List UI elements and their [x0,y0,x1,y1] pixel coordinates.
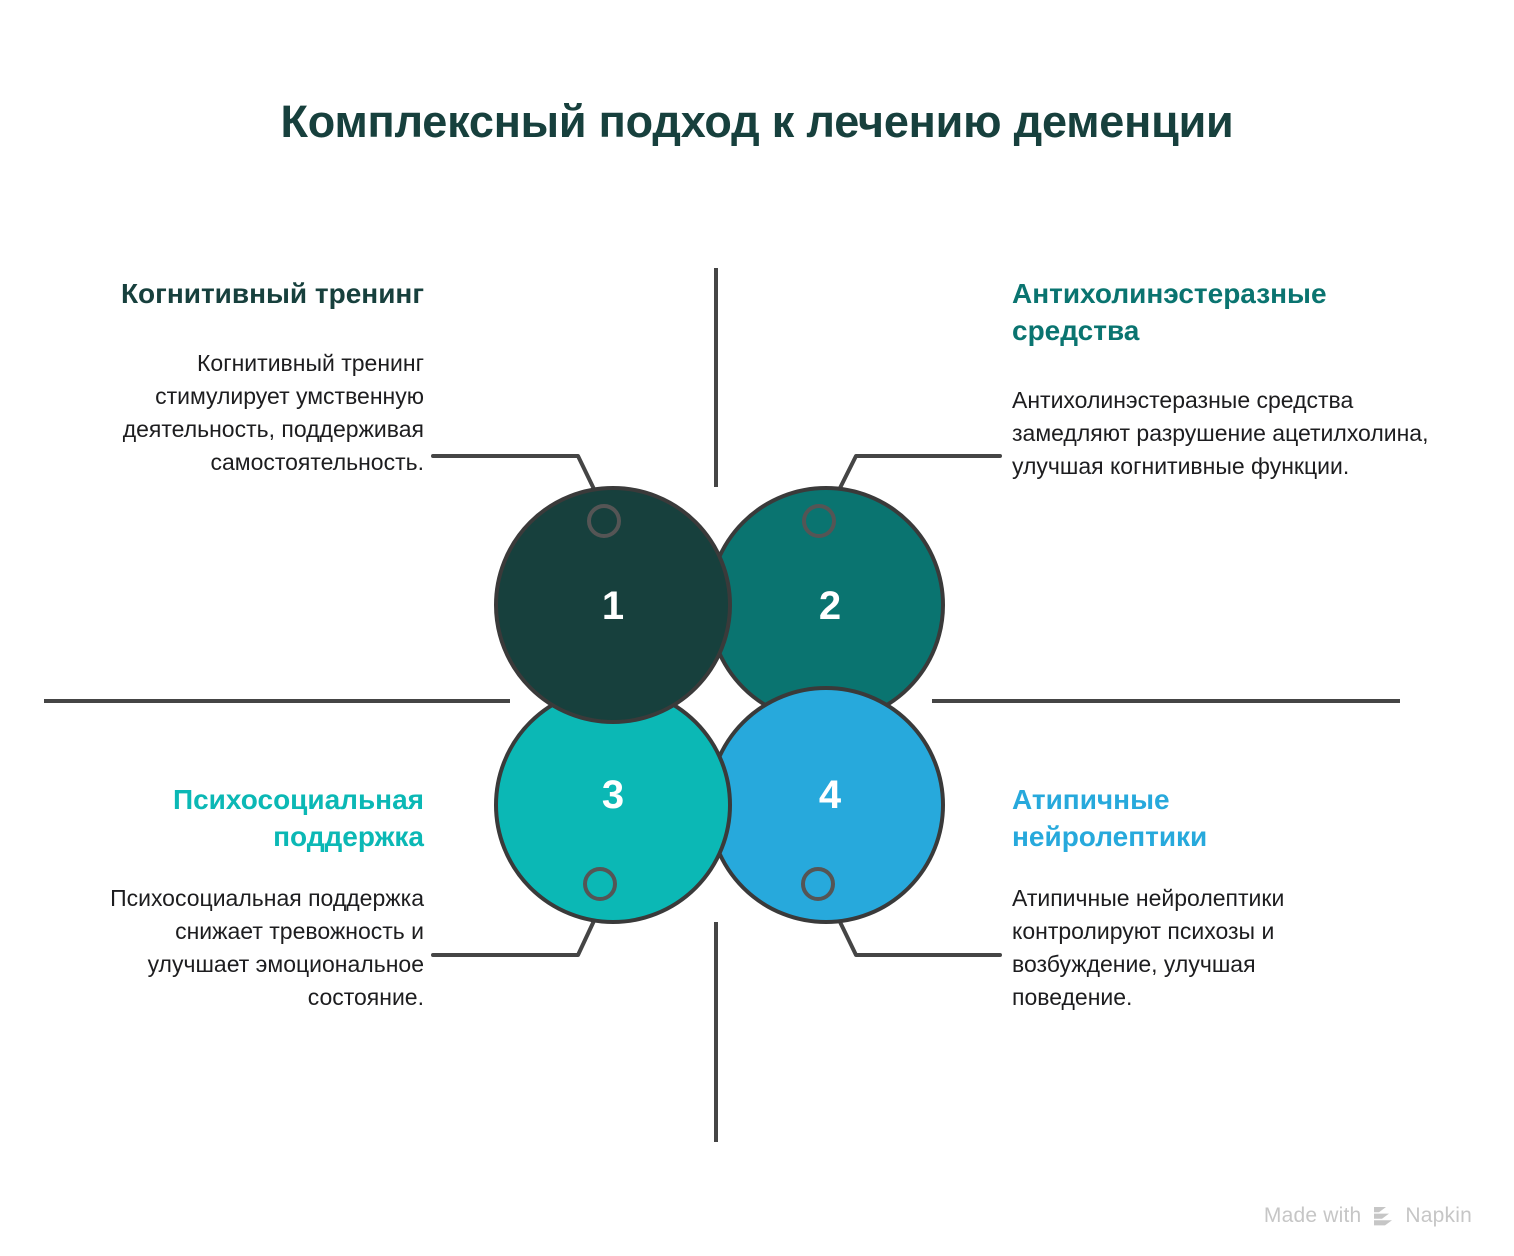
quadrant-heading-3: Психосоциальная поддержка [68,782,424,856]
quadrant-heading-4: Атипичные нейролептики [1012,782,1362,856]
venn-circle-number-1: 1 [583,586,643,626]
quadrant-body-4: Атипичные нейролептики контролируют псих… [1012,882,1362,1014]
quadrant-body-1: Когнитивный тренинг стимулирует умственн… [88,347,424,479]
quadrant-heading-2: Антихолинэстеразные средства [1012,276,1452,350]
infographic-root: Комплексный подход к лечению деменции [0,0,1514,1256]
napkin-logo-icon [1370,1204,1396,1228]
quadrant-bottom-right: Атипичные нейролептики Атипичные нейроле… [1012,782,1362,1014]
quadrant-bottom-left: Психосоциальная поддержка Психосоциальна… [68,782,424,1014]
quadrant-top-right: Антихолинэстеразные средства Антихолинэс… [1012,276,1452,483]
watermark-prefix: Made with [1264,1204,1362,1228]
watermark-brand: Napkin [1405,1204,1472,1228]
venn-circle-number-3: 3 [583,775,643,815]
venn-circle-number-2: 2 [800,586,860,626]
venn-circles [496,488,943,922]
quadrant-top-left: Когнитивный тренинг Когнитивный тренинг … [88,276,424,479]
quadrant-heading-1: Когнитивный тренинг [88,276,424,313]
venn-circle-number-4: 4 [800,775,860,815]
watermark[interactable]: Made with Napkin [1264,1204,1472,1228]
diagram-graphics [0,0,1514,1256]
quadrant-body-3: Психосоциальная поддержка снижает тревож… [68,882,424,1014]
quadrant-body-2: Антихолинэстеразные средства замедляют р… [1012,384,1452,483]
